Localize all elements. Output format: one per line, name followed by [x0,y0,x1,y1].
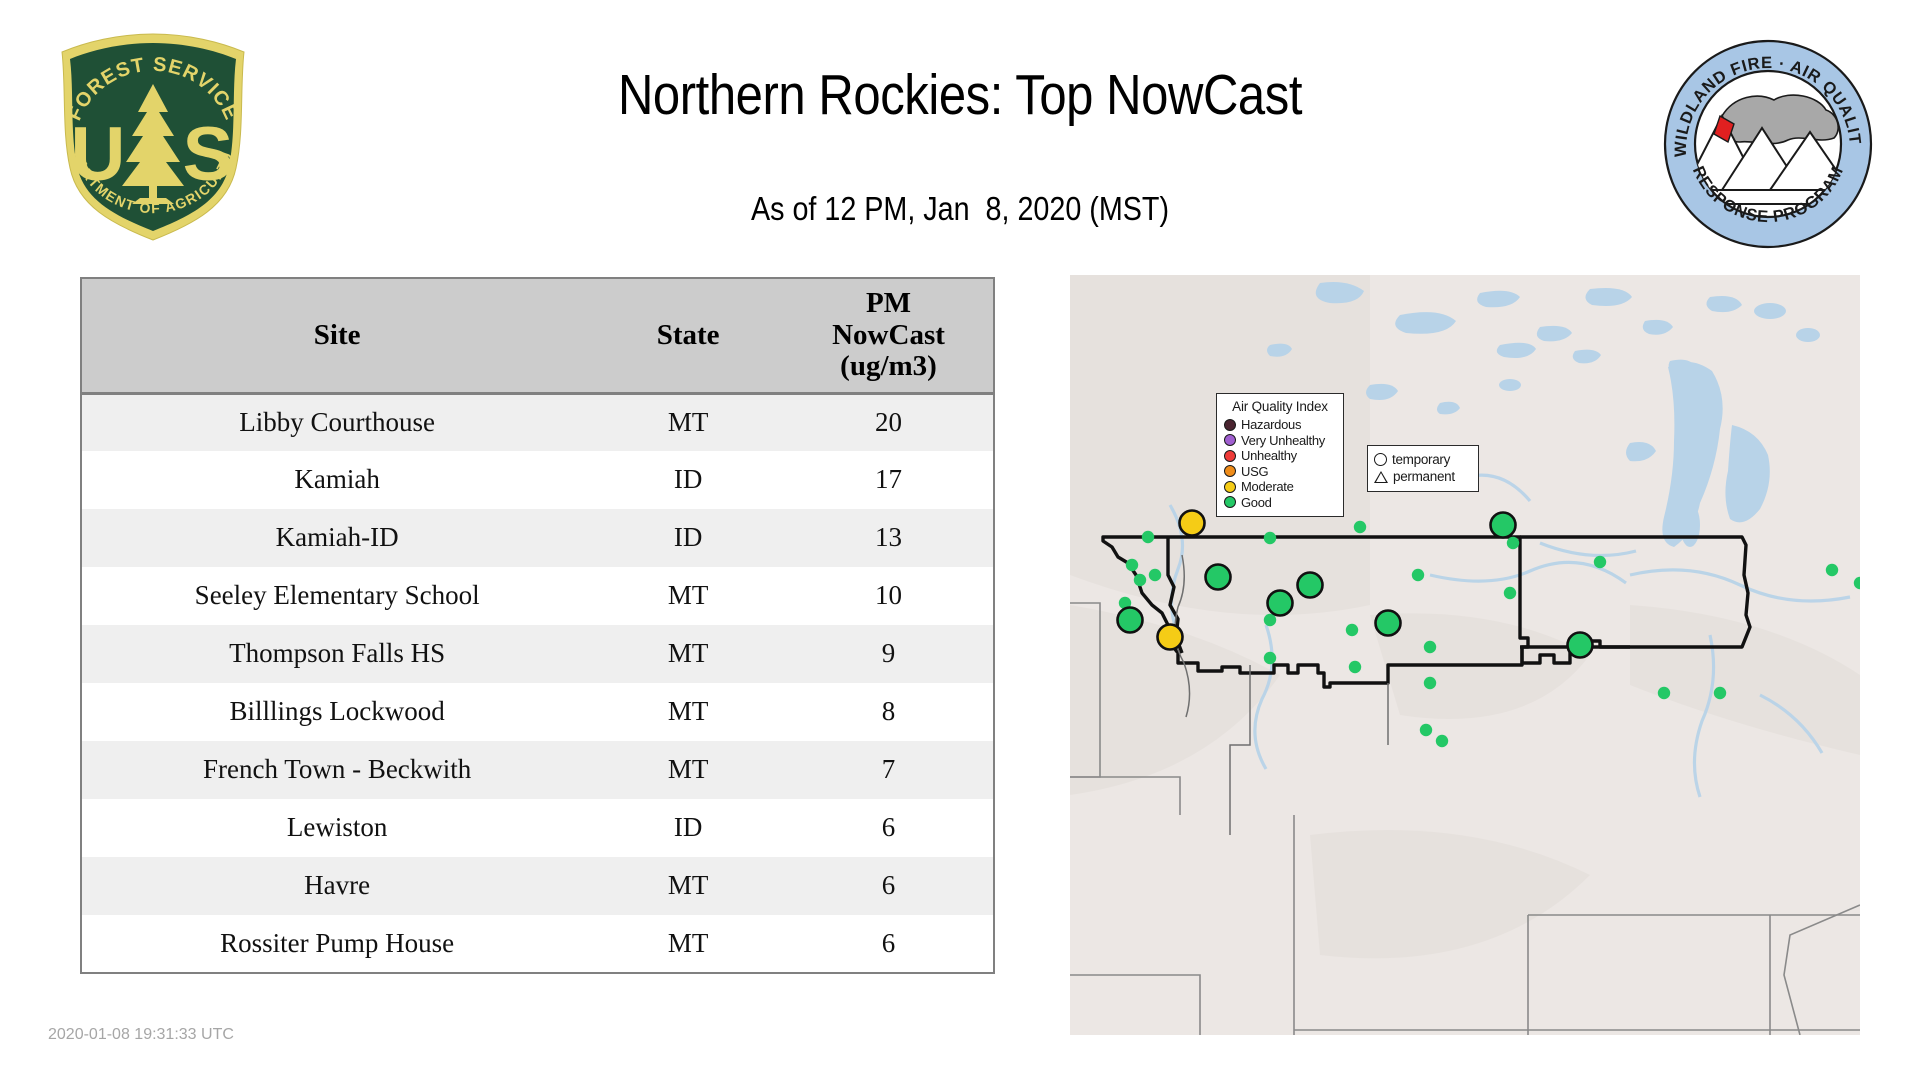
cell-state: MT [592,683,784,741]
monitor-dot-large[interactable] [1376,611,1401,636]
monitor-dot-small[interactable] [1354,521,1366,533]
page-subtitle: As of 12 PM, Jan 8, 2020 (MST) [386,190,1534,228]
monitor-dot-small[interactable] [1424,641,1436,653]
cell-pm-nowcast: 20 [784,393,994,451]
monitor-dot-small[interactable] [1346,624,1358,636]
monitor-dot-small[interactable] [1126,559,1138,571]
cell-pm-nowcast: 6 [784,857,994,915]
cell-site: Seeley Elementary School [81,567,592,625]
cell-state: MT [592,741,784,799]
monitor-dot-small[interactable] [1149,569,1161,581]
aqi-legend-label: Good [1241,496,1272,509]
cell-state: MT [592,567,784,625]
monitor-dot-large[interactable] [1118,608,1143,633]
cell-state: ID [592,451,784,509]
cell-state: MT [592,393,784,451]
generation-timestamp: 2020-01-08 19:31:33 UTC [48,1026,234,1044]
table-row: Libby CourthouseMT20 [81,393,994,451]
column-header-state: State [592,278,784,393]
circle-icon [1374,453,1387,466]
column-header-pm-line1: PM [866,287,911,319]
cell-state: MT [592,625,784,683]
symbol-legend-row-temporary: temporary [1374,451,1472,468]
aqi-legend-item: Good [1224,495,1336,511]
cell-pm-nowcast: 6 [784,915,994,973]
usfs-letter-u: U [71,112,126,197]
monitor-dot-small[interactable] [1134,574,1146,586]
map-canvas [1070,275,1860,1035]
table-row: Billlings LockwoodMT8 [81,683,994,741]
aqi-legend-label: Hazardous [1241,418,1301,431]
cell-pm-nowcast: 13 [784,509,994,567]
aqi-legend-item: USG [1224,464,1336,480]
table-row: LewistonID6 [81,799,994,857]
cell-pm-nowcast: 10 [784,567,994,625]
cell-state: ID [592,799,784,857]
monitor-dot-small[interactable] [1412,569,1424,581]
aqi-color-swatch [1224,419,1236,431]
monitor-dot-small[interactable] [1826,564,1838,576]
monitor-dot-large[interactable] [1491,513,1516,538]
table-row: KamiahID17 [81,451,994,509]
aqi-legend-label: Very Unhealthy [1241,434,1325,447]
column-header-pm-line2: NowCast [832,319,945,351]
monitor-dot-small[interactable] [1507,537,1519,549]
aqi-legend: Air Quality Index HazardousVery Unhealth… [1216,393,1344,517]
cell-site: Rossiter Pump House [81,915,592,973]
aqi-legend-item: Hazardous [1224,417,1336,433]
monitor-dot-large[interactable] [1206,565,1231,590]
wfaqrp-logo: WILDLAND FIRE · AIR QUALITY RESPONSE PRO… [1662,38,1874,250]
table-row: Seeley Elementary SchoolMT10 [81,567,994,625]
cell-pm-nowcast: 9 [784,625,994,683]
cell-site: Kamiah-ID [81,509,592,567]
aqi-legend-label: Moderate [1241,480,1294,493]
monitor-dot-large[interactable] [1158,625,1183,650]
monitor-dot-small[interactable] [1142,531,1154,543]
cell-site: Thompson Falls HS [81,625,592,683]
nowcast-table: Site State PM NowCast (ug/m3) Libby Cour… [80,277,995,974]
aqi-legend-rows: HazardousVery UnhealthyUnhealthyUSGModer… [1224,417,1336,510]
cell-pm-nowcast: 8 [784,683,994,741]
table-row: Thompson Falls HSMT9 [81,625,994,683]
cell-site: Libby Courthouse [81,393,592,451]
table-row: French Town - BeckwithMT7 [81,741,994,799]
cell-site: Havre [81,857,592,915]
table-body: Libby CourthouseMT20KamiahID17Kamiah-IDI… [81,393,994,973]
nowcast-table-container: Site State PM NowCast (ug/m3) Libby Cour… [80,277,995,974]
aqi-legend-label: USG [1241,465,1268,478]
table-row: Rossiter Pump HouseMT6 [81,915,994,973]
monitor-dot-small[interactable] [1504,587,1516,599]
cell-site: Billlings Lockwood [81,683,592,741]
cell-pm-nowcast: 17 [784,451,994,509]
aqi-legend-title: Air Quality Index [1224,399,1336,414]
cell-state: MT [592,857,784,915]
monitor-dot-large[interactable] [1268,591,1293,616]
monitor-dot-small[interactable] [1714,687,1726,699]
symbol-legend-label-permanent: permanent [1393,469,1455,484]
table-row: Kamiah-IDID13 [81,509,994,567]
column-header-site: Site [81,278,592,393]
slide-root: FOREST SERVICE DEPARTMENT OF AGRICULTURE… [0,0,1920,1080]
symbol-legend-row-permanent: permanent [1374,468,1472,485]
cell-pm-nowcast: 6 [784,799,994,857]
aqi-legend-item: Unhealthy [1224,448,1336,464]
table-header-row: Site State PM NowCast (ug/m3) [81,278,994,393]
symbol-legend-label-temporary: temporary [1392,452,1450,467]
column-header-pm-nowcast: PM NowCast (ug/m3) [784,278,994,393]
aqi-legend-item: Moderate [1224,479,1336,495]
usfs-letter-s: S [183,112,234,197]
aqi-legend-item: Very Unhealthy [1224,433,1336,449]
aqi-color-swatch [1224,434,1236,446]
aqi-legend-label: Unhealthy [1241,449,1297,462]
cell-pm-nowcast: 7 [784,741,994,799]
monitor-dot-small[interactable] [1420,724,1432,736]
monitor-dot-small[interactable] [1264,614,1276,626]
monitor-dot-small[interactable] [1658,687,1670,699]
aqi-color-swatch [1224,450,1236,462]
aqi-color-swatch [1224,481,1236,493]
monitor-dot-large[interactable] [1568,633,1593,658]
monitor-dot-small[interactable] [1436,735,1448,747]
monitor-dot-small[interactable] [1264,652,1276,664]
table-head: Site State PM NowCast (ug/m3) [81,278,994,393]
monitor-dot-small[interactable] [1424,677,1436,689]
monitor-dot-large[interactable] [1298,573,1323,598]
cell-site: French Town - Beckwith [81,741,592,799]
triangle-icon [1374,471,1388,483]
aqi-color-swatch [1224,465,1236,477]
cell-state: ID [592,509,784,567]
aqi-monitor-map[interactable]: Air Quality Index HazardousVery Unhealth… [1070,275,1860,1035]
page-title: Northern Rockies: Top NowCast [392,62,1527,128]
monitor-dot-small[interactable] [1349,661,1361,673]
symbol-legend: temporary permanent [1367,445,1479,492]
usfs-shield-logo: FOREST SERVICE DEPARTMENT OF AGRICULTURE… [48,28,258,243]
monitor-dot-small[interactable] [1594,556,1606,568]
cell-site: Lewiston [81,799,592,857]
cell-site: Kamiah [81,451,592,509]
monitor-dot-large[interactable] [1180,511,1205,536]
column-header-pm-line3: (ug/m3) [840,350,937,382]
cell-state: MT [592,915,784,973]
aqi-color-swatch [1224,496,1236,508]
monitor-dot-small[interactable] [1264,532,1276,544]
table-row: HavreMT6 [81,857,994,915]
